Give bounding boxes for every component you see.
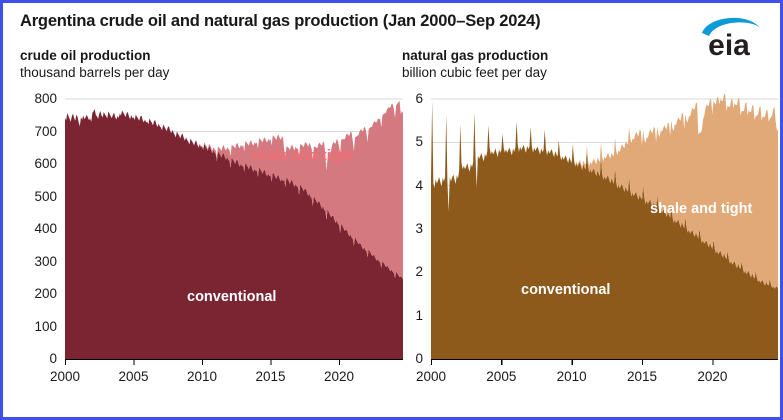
y-tick-label: 700 xyxy=(3,125,57,139)
oil-chart: 2000200520102015202001002003004005006007… xyxy=(3,91,403,391)
logo-wordmark: eia xyxy=(708,29,750,61)
y-tick-label: 3 xyxy=(395,222,423,236)
page-title: Argentina crude oil and natural gas prod… xyxy=(20,12,540,31)
y-tick-label: 0 xyxy=(3,352,57,366)
gas-panel-subtitle: billion cubic feet per day xyxy=(402,64,548,81)
oil-panel-heading: crude oil production thousand barrels pe… xyxy=(20,47,169,81)
oil-label-conventional: conventional xyxy=(187,290,276,305)
y-tick-label: 400 xyxy=(3,222,57,236)
y-tick-label: 4 xyxy=(395,179,423,193)
x-tick-label: 2005 xyxy=(114,370,154,384)
x-tick-label: 2015 xyxy=(622,370,662,384)
oil-label-shale: shale and tight xyxy=(251,149,353,164)
x-tick-label: 2020 xyxy=(319,370,359,384)
oil-panel-title: crude oil production xyxy=(20,47,169,64)
eia-logo: eia xyxy=(686,9,772,61)
y-tick-label: 0 xyxy=(395,352,423,366)
gas-chart: 200020052010201520200123456shale and tig… xyxy=(395,91,780,391)
y-tick-label: 200 xyxy=(3,287,57,301)
y-tick-label: 2 xyxy=(395,265,423,279)
x-tick-label: 2015 xyxy=(251,370,291,384)
y-tick-label: 5 xyxy=(395,135,423,149)
x-tick-label: 2000 xyxy=(411,370,451,384)
gas-panel-title: natural gas production xyxy=(402,47,548,64)
y-tick-label: 300 xyxy=(3,255,57,269)
y-tick-label: 1 xyxy=(395,309,423,323)
y-tick-label: 800 xyxy=(3,92,57,106)
y-tick-label: 600 xyxy=(3,157,57,171)
gas-label-conventional: conventional xyxy=(521,283,610,298)
gas-panel-heading: natural gas production billion cubic fee… xyxy=(402,47,548,81)
x-tick-label: 2000 xyxy=(45,370,85,384)
x-tick-label: 2010 xyxy=(552,370,592,384)
x-tick-label: 2005 xyxy=(481,370,521,384)
oil-panel-subtitle: thousand barrels per day xyxy=(20,64,169,81)
y-tick-label: 6 xyxy=(395,92,423,106)
y-tick-label: 500 xyxy=(3,190,57,204)
y-tick-label: 100 xyxy=(3,320,57,334)
chart-page: Argentina crude oil and natural gas prod… xyxy=(0,0,783,420)
oil-plot-wrap-svg xyxy=(3,91,403,391)
x-tick-label: 2020 xyxy=(692,370,732,384)
gas-label-shale: shale and tight xyxy=(650,202,752,217)
x-tick-label: 2010 xyxy=(182,370,222,384)
gas-plot-wrap-svg xyxy=(395,91,780,391)
